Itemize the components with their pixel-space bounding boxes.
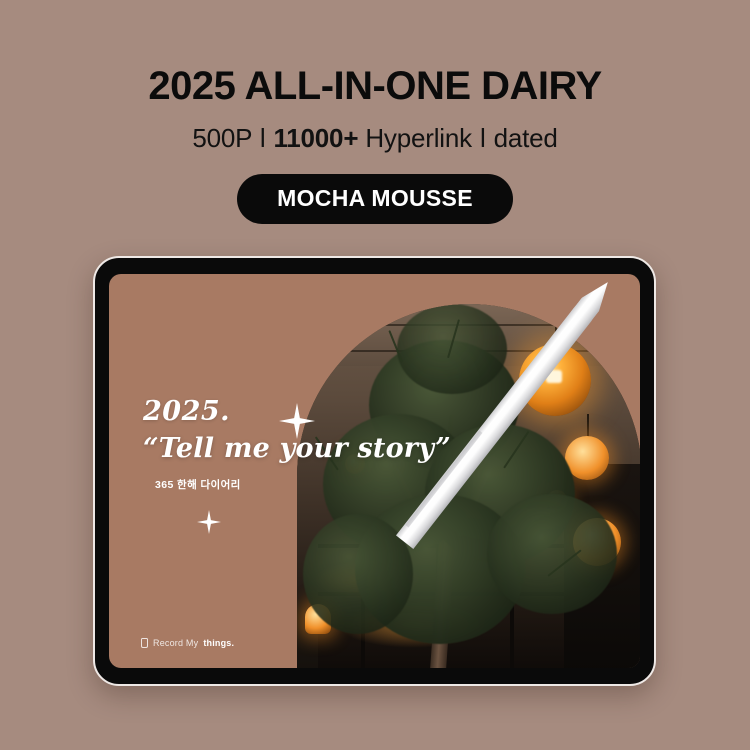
- screen-quote: “Tell me your story”: [143, 435, 451, 463]
- subtitle-separator-2: l: [479, 123, 487, 153]
- screen-korean-caption: 365 한해 다이어리: [155, 477, 451, 492]
- logo-text-bold: things.: [203, 638, 234, 648]
- status-badge[interactable]: MOCHA MOUSSE: [237, 174, 513, 224]
- subtitle-hyperlink-count: 11000+: [273, 123, 358, 153]
- badge-container: MOCHA MOUSSE: [0, 174, 750, 224]
- subtitle-dated: dated: [494, 123, 558, 153]
- notebook-icon: [141, 638, 148, 648]
- subtitle-separator-1: l: [259, 123, 267, 153]
- tree-foliage-far-right: [487, 494, 617, 614]
- poster-subtitle: 500P l 11000+ Hyperlink l dated: [0, 123, 750, 154]
- subtitle-hyperlink-label: Hyperlink: [365, 123, 472, 153]
- subtitle-pages: 500P: [192, 123, 251, 153]
- tree-foliage-far-left: [303, 514, 413, 634]
- brand-logo: Record My things.: [141, 638, 234, 648]
- logo-text-regular: Record My: [153, 638, 198, 648]
- poster-header: 2025 ALL-IN-ONE DAIRY 500P l 11000+ Hype…: [0, 0, 750, 224]
- poster-canvas: 2025 ALL-IN-ONE DAIRY 500P l 11000+ Hype…: [0, 0, 750, 750]
- tree-foliage-crown: [397, 304, 507, 394]
- page-title: 2025 ALL-IN-ONE DAIRY: [0, 64, 750, 109]
- sparkle-icon-small: [197, 510, 221, 534]
